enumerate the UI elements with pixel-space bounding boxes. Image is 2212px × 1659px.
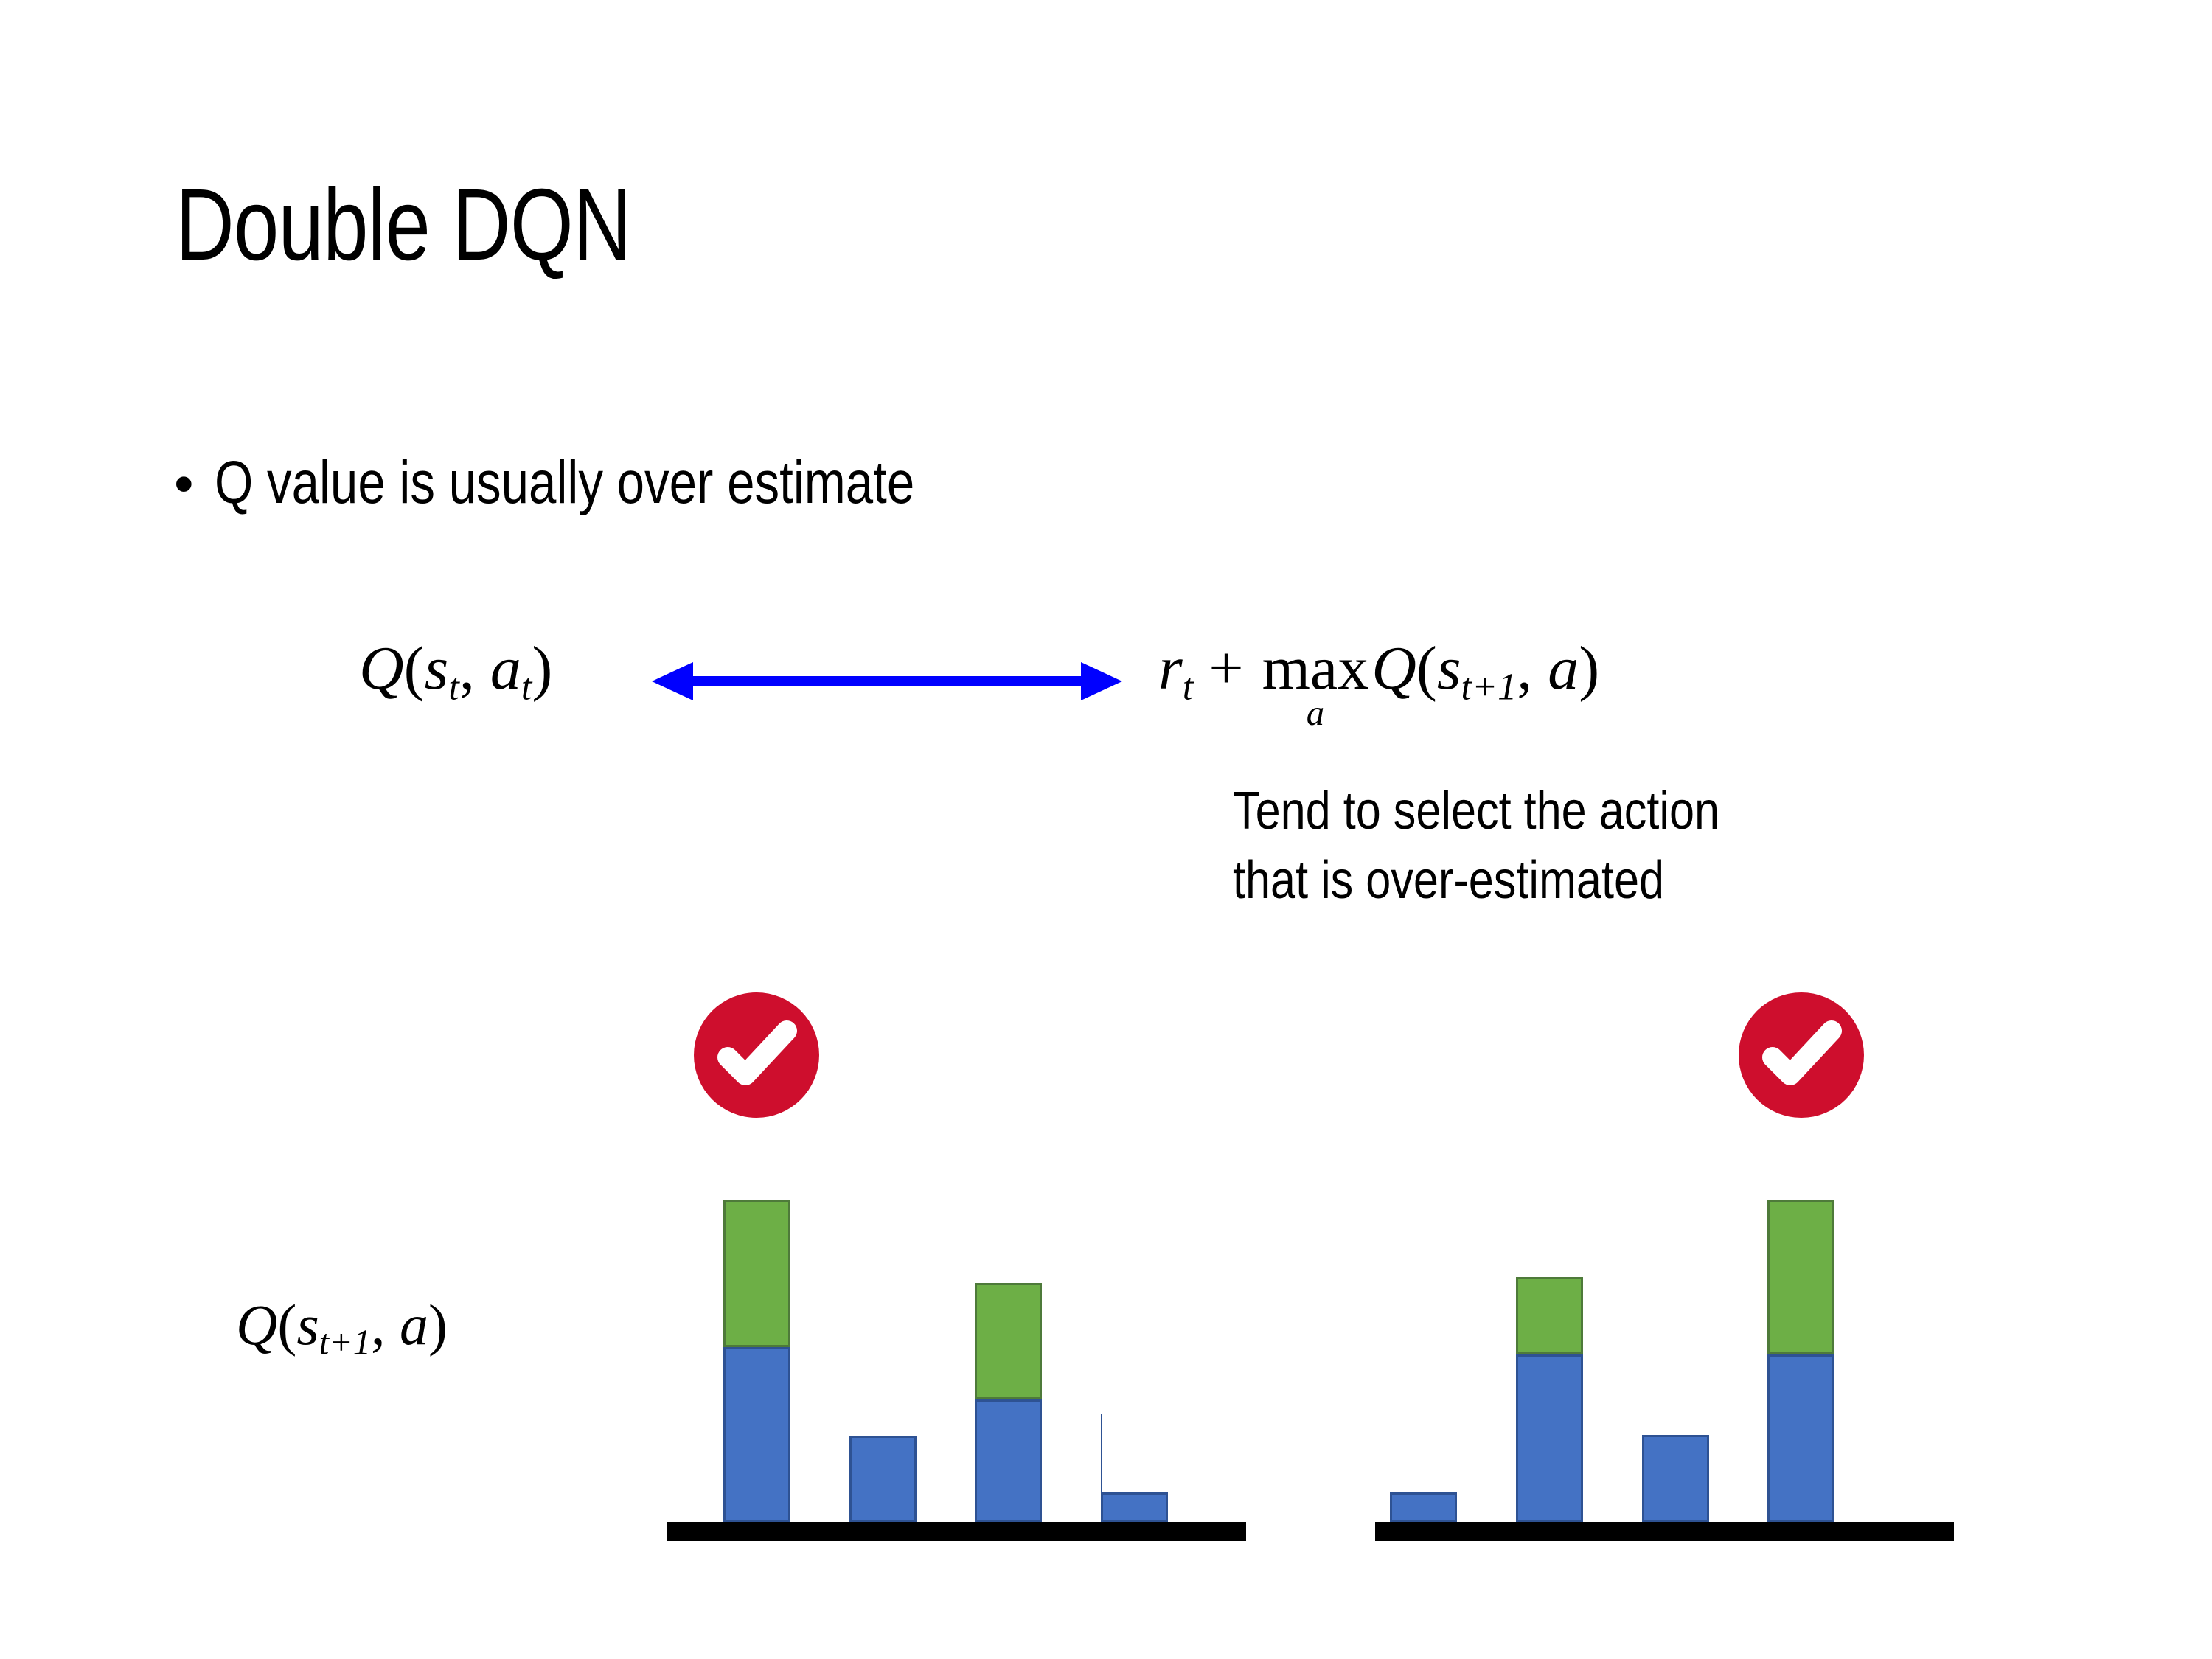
bullet-dot-icon: • — [174, 456, 194, 512]
eq-right-q: Q — [1371, 634, 1416, 703]
ylabel-s: s — [296, 1293, 319, 1357]
bar-segment-blue — [1101, 1492, 1168, 1522]
eq-left-comma: , — [459, 634, 490, 703]
eq-right-close-paren: ) — [1579, 634, 1599, 703]
status-badge-check-icon — [694, 992, 819, 1118]
eq-left-s: s — [425, 634, 449, 703]
chart-left-q-distribution — [667, 981, 1246, 1541]
eq-right-comma: , — [1517, 634, 1548, 703]
eq-right-a: a — [1548, 634, 1579, 703]
table-row[interactable] — [1767, 1200, 1834, 1522]
table-row[interactable] — [1390, 1492, 1457, 1522]
chart-y-axis-label: Q(st+1, a) — [236, 1292, 448, 1363]
eq-left-open-paren: ( — [404, 634, 425, 703]
page-title: Double DQN — [175, 174, 631, 276]
table-row[interactable] — [723, 1200, 790, 1522]
bar-segment-green — [1516, 1277, 1583, 1354]
eq-left-a: a — [490, 634, 521, 703]
equation-right: rt + maxaQ(st+1, a) — [1158, 633, 1599, 731]
eq-left-a-sub: t — [521, 667, 532, 709]
bar-segment-blue — [975, 1399, 1042, 1522]
eq-right-plus: + — [1193, 634, 1259, 703]
bar-segment-green — [1767, 1200, 1834, 1354]
table-row[interactable] — [1642, 1435, 1709, 1522]
annotation-note-line-2: that is over-estimated — [1233, 846, 1719, 916]
bullet-item-label: Q value is usually over estimate — [215, 451, 914, 515]
double-arrow-icon — [647, 658, 1127, 704]
bullet-item: • Q value is usually over estimate — [174, 451, 1068, 515]
ylabel-close-paren: ) — [428, 1293, 448, 1357]
bar-segment-blue — [849, 1436, 917, 1522]
annotation-note: Tend to select the action that is over-e… — [1233, 777, 1719, 915]
ylabel-open-paren: ( — [277, 1293, 296, 1357]
slide-canvas: Double DQN • Q value is usually over est… — [0, 0, 2212, 1659]
eq-left-s-sub: t — [448, 667, 459, 709]
ylabel-q: Q — [236, 1293, 277, 1357]
eq-right-r: r — [1158, 634, 1183, 703]
table-row[interactable] — [849, 1436, 917, 1522]
eq-right-s-sub: t+1 — [1461, 667, 1517, 709]
bar-segment-green — [723, 1200, 790, 1347]
annotation-note-line-1: Tend to select the action — [1233, 777, 1719, 846]
eq-left-q: Q — [359, 634, 404, 703]
bar-segment-blue — [1767, 1354, 1834, 1522]
ylabel-a: a — [400, 1293, 428, 1357]
max-operator: maxa — [1262, 640, 1369, 731]
max-operator-label: max — [1262, 640, 1369, 697]
bar-segment-blue — [1390, 1492, 1457, 1522]
bar-segment-blue — [1642, 1435, 1709, 1522]
chart-left-baseline-axis — [667, 1522, 1246, 1541]
table-row[interactable] — [1101, 1492, 1168, 1522]
bar-segment-blue — [723, 1347, 790, 1522]
chart-right-q-distribution — [1375, 981, 1954, 1541]
error-tick-line — [1101, 1414, 1102, 1492]
table-row[interactable] — [1516, 1277, 1583, 1522]
chart-right-baseline-axis — [1375, 1522, 1954, 1541]
ylabel-s-sub: t+1 — [319, 1324, 371, 1363]
equation-left: Q(st, at) — [359, 633, 552, 709]
eq-left-close-paren: ) — [532, 634, 552, 703]
ylabel-comma: , — [371, 1293, 400, 1357]
eq-right-r-sub: t — [1183, 667, 1193, 709]
status-badge-check-icon — [1739, 992, 1864, 1118]
table-row[interactable] — [975, 1283, 1042, 1522]
bar-segment-green — [975, 1283, 1042, 1399]
eq-right-open-paren: ( — [1416, 634, 1437, 703]
eq-right-s: s — [1437, 634, 1461, 703]
bar-segment-blue — [1516, 1354, 1583, 1522]
max-operator-limit: a — [1307, 695, 1324, 731]
